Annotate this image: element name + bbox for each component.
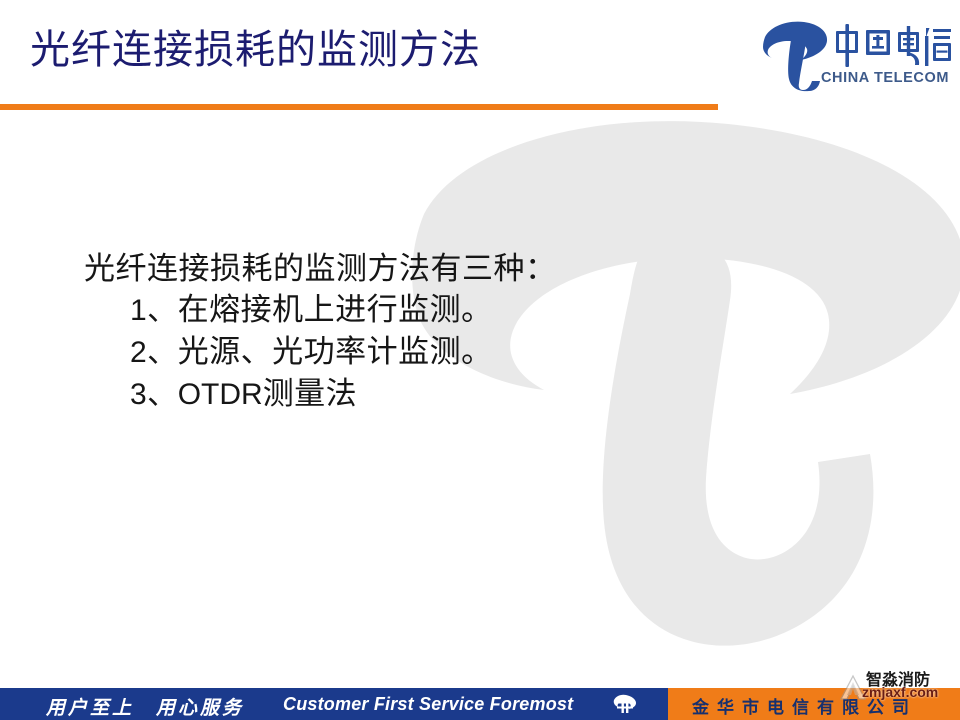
page-title: 光纤连接损耗的监测方法 <box>30 26 481 74</box>
footer-company-name: 金华市电信有限公司 <box>692 693 917 718</box>
china-telecom-logo: CHINA TELECOM <box>762 16 952 100</box>
list-item-3-latin: OTDR <box>178 378 263 411</box>
body-list-item-1: 1、在熔接机上进行监测。 <box>84 289 557 331</box>
body-list-item-2: 2、光源、光功率计监测。 <box>84 331 557 373</box>
footer-right-band: 金华市电信有限公司 <box>668 688 960 720</box>
watermark-name: 智淼消防 <box>866 666 930 690</box>
slide-footer: 用户至上 用心服务 Customer First Service Foremos… <box>0 688 960 720</box>
list-item-1-text: 在熔接机上进行监测。 <box>178 292 493 327</box>
footer-slogan-en: Customer First Service Foremost <box>283 694 573 715</box>
list-item-2-number: 2、 <box>130 336 178 369</box>
list-item-2-text: 光源、光功率计监测。 <box>178 334 493 369</box>
title-underline-rule <box>0 104 718 110</box>
footer-slogan-cn: 用户至上 用心服务 <box>46 693 244 720</box>
body-list-item-3: 3、OTDR测量法 <box>84 373 557 415</box>
china-telecom-small-mark-icon <box>612 694 638 714</box>
footer-left-band: 用户至上 用心服务 Customer First Service Foremos… <box>0 688 668 720</box>
list-item-3-number: 3、 <box>130 378 178 411</box>
body-intro-line: 光纤连接损耗的监测方法有三种： <box>84 248 557 289</box>
list-item-3-text: 测量法 <box>263 376 358 411</box>
slide-canvas: 光纤连接损耗的监测方法 <box>0 0 960 720</box>
list-item-1-number: 1、 <box>130 294 178 327</box>
brand-en-name: CHINA TELECOM <box>818 70 952 86</box>
slide-body: 光纤连接损耗的监测方法有三种： 1、在熔接机上进行监测。 2、光源、光功率计监测… <box>84 248 557 415</box>
brand-cn-name-zhongguodianxin <box>830 22 952 70</box>
